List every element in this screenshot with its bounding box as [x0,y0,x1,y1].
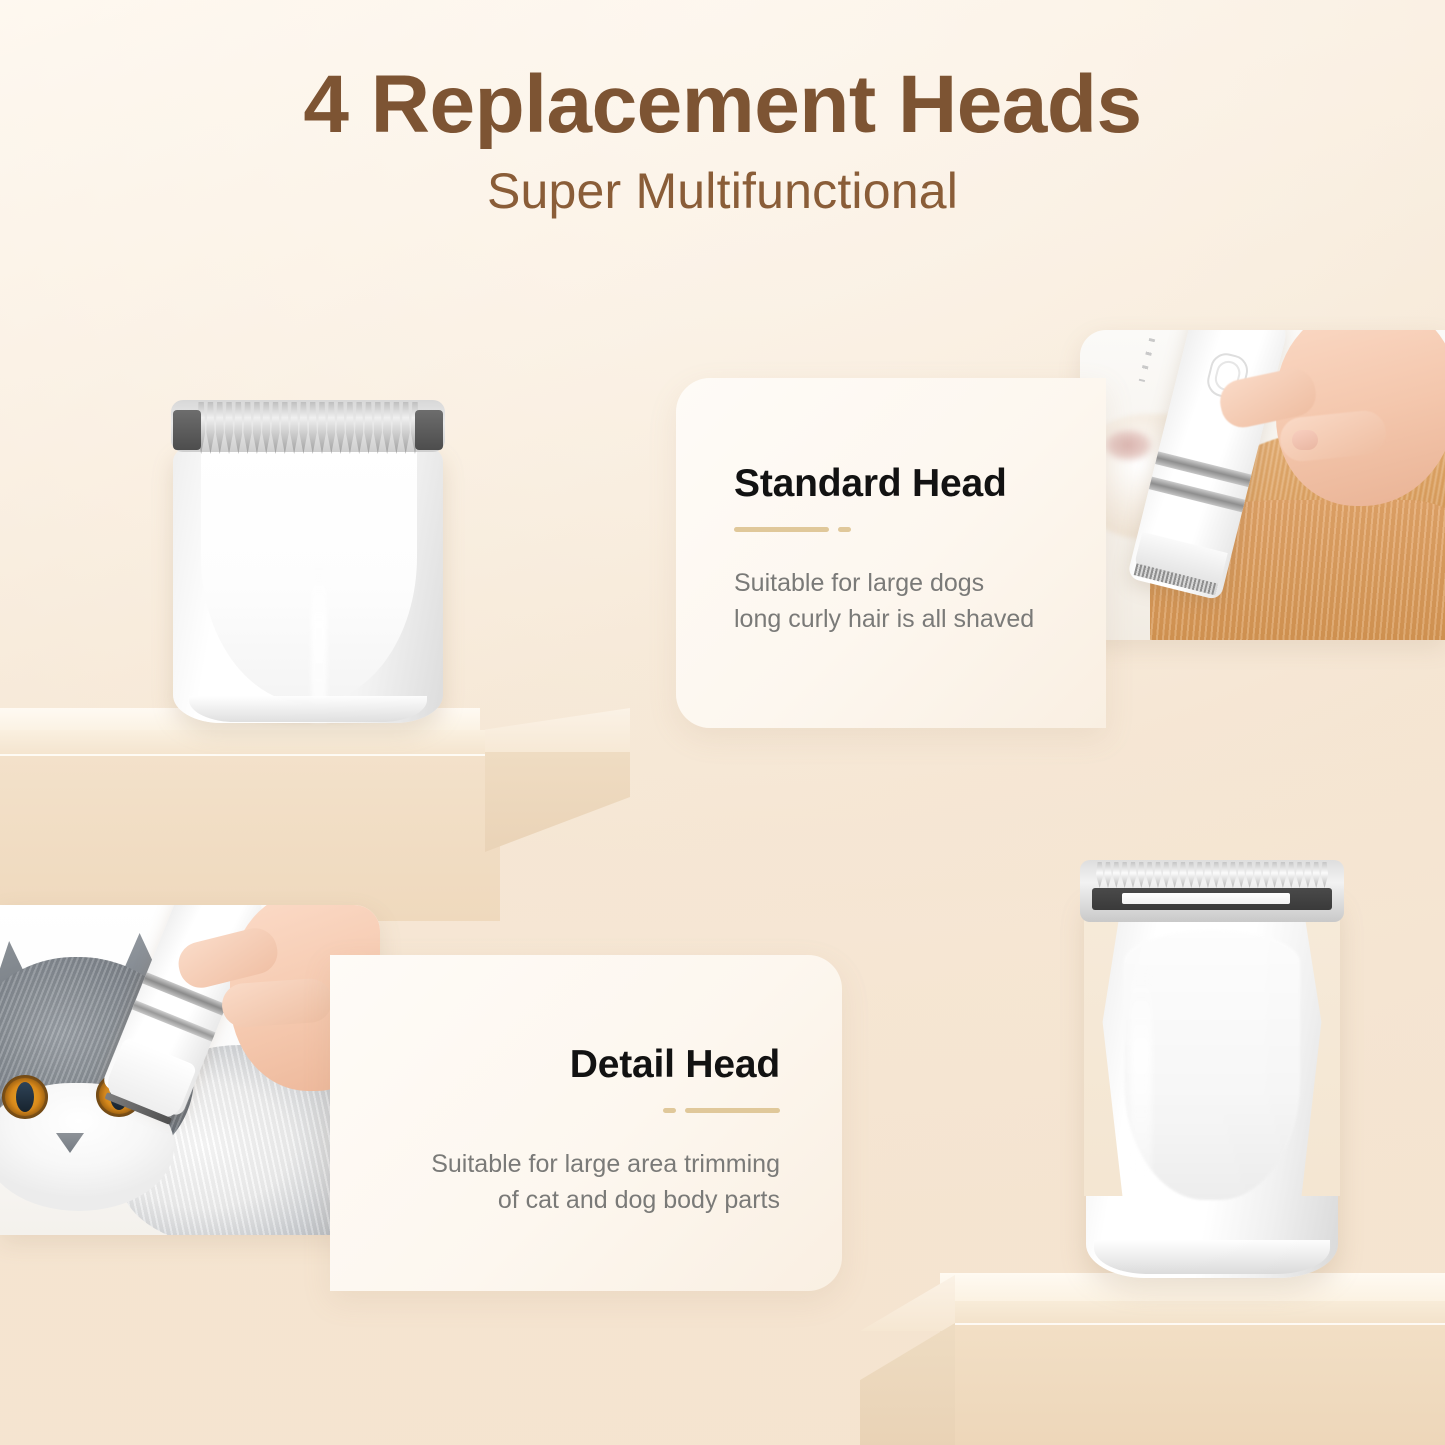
dog-paw-pad [1102,428,1154,462]
dog-grooming-photo [1080,330,1445,640]
standard-head-product-image [163,396,453,726]
blade-teeth [197,402,419,454]
product-feature-banner: 4 Replacement Heads Super Multifunctiona… [0,0,1445,1445]
standard-head-base [189,696,427,722]
standard-head-card-description: Suitable for large dogs long curly hair … [734,532,1106,637]
thumb-nail [1292,430,1318,450]
standard-head-blade [163,396,453,458]
detail-head-product-image [1072,858,1352,1278]
divider-dash-short-2 [663,1108,676,1113]
detail-head-card: Detail Head Suitable for large area trim… [330,955,842,1291]
pedestal-right-front-face [940,1325,1445,1445]
standard-head-desc-line-1: Suitable for large dogs [734,569,984,597]
finger-lower-2 [221,977,334,1029]
divider-dash-long-2 [685,1108,780,1113]
led-indicator-icon [1139,338,1155,382]
detail-head-desc-line-2: of cat and dog body parts [498,1186,780,1214]
detail-blade-teeth [1096,862,1328,888]
detail-blade-bar-highlight [1122,893,1290,904]
detail-head-gloss [1130,968,1152,1178]
blade-cap-right [415,410,443,450]
detail-head-blade [1080,858,1344,926]
page-title: 4 Replacement Heads [0,0,1445,148]
detail-head-card-description: Suitable for large area trimming of cat … [330,1113,780,1218]
standard-head-card-title: Standard Head [734,462,1106,506]
pedestal-right-bevel-top [860,1275,955,1331]
detail-head-card-title: Detail Head [330,1043,780,1087]
detail-head-desc-line-1: Suitable for large area trimming [431,1150,780,1178]
pedestal-left-front-face [0,756,500,921]
pedestal-right-bevel-face [860,1323,955,1445]
page-subtitle: Super Multifunctional [0,148,1445,219]
standard-head-desc-line-2: long curly hair is all shaved [734,605,1034,633]
pedestal-right [860,1255,1445,1445]
blade-cap-left [173,410,201,450]
pedestal-left-bevel-face [485,752,630,852]
divider-dash-short [838,527,851,532]
header: 4 Replacement Heads Super Multifunctiona… [0,0,1445,219]
standard-head-card: Standard Head Suitable for large dogs lo… [676,378,1106,728]
detail-head-base [1094,1240,1330,1274]
divider-dash-long [734,527,829,532]
cat-grooming-photo [0,905,380,1235]
cat-pupil-left [16,1082,34,1112]
